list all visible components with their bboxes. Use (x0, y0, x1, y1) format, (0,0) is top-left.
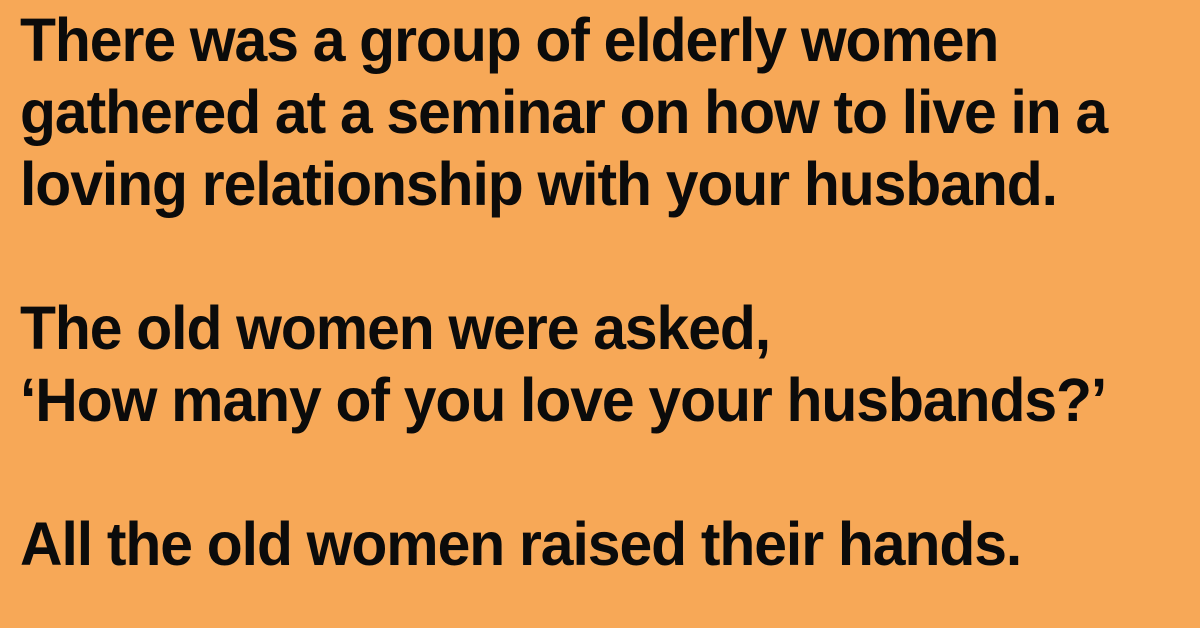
story-paragraph-2: The old women were asked, ‘How many of y… (20, 292, 1155, 436)
story-paragraph-1: There was a group of elderly women gathe… (20, 4, 1155, 220)
paragraph-spacer-1 (20, 220, 1196, 292)
paragraph-spacer-2 (20, 436, 1196, 508)
story-paragraph-3: All the old women raised their hands. (20, 508, 1155, 580)
story-text-block: There was a group of elderly women gathe… (20, 4, 1196, 580)
text-card: There was a group of elderly women gathe… (0, 0, 1200, 628)
